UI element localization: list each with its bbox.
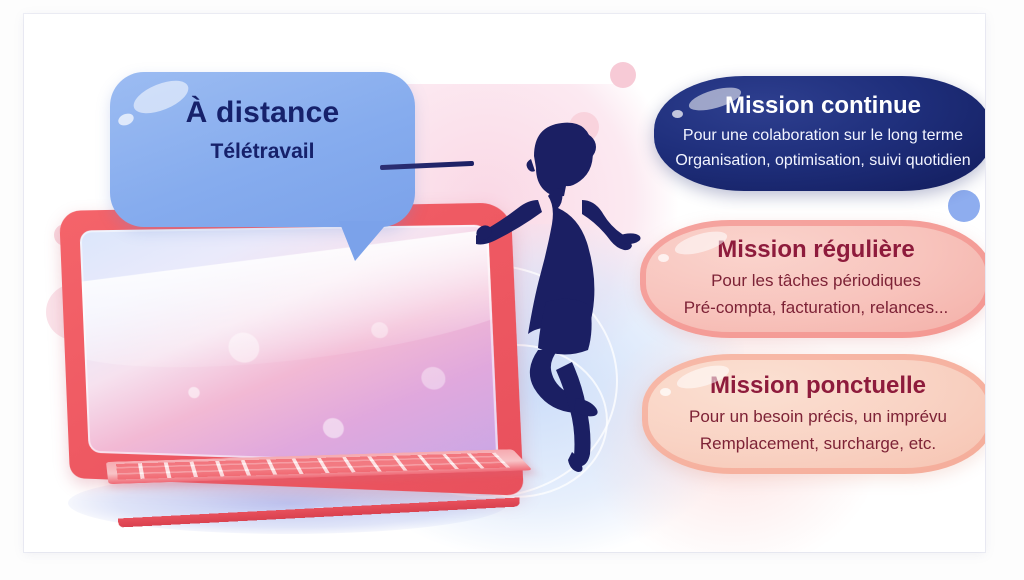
card-highlight-small bbox=[660, 388, 671, 396]
bubble-subtitle: Télétravail bbox=[110, 140, 415, 164]
bubble-title: À distance bbox=[110, 96, 415, 130]
card-mission-reguliere[interactable]: Mission régulière Pour les tâches périod… bbox=[640, 220, 985, 338]
woman-silhouette bbox=[476, 114, 656, 474]
card-line-two: Remplacement, surcharge, etc. bbox=[642, 434, 985, 454]
card-highlight-small bbox=[658, 254, 669, 262]
woman-silhouette-svg bbox=[476, 114, 656, 474]
card-line-two: Organisation, optimisation, suivi quotid… bbox=[654, 152, 985, 170]
card-line-one: Pour un besoin précis, un imprévu bbox=[642, 407, 985, 427]
decor-dot-blue-1 bbox=[948, 190, 980, 222]
speech-bubble: À distance Télétravail bbox=[110, 72, 415, 227]
card-line-two: Pré-compta, facturation, relances... bbox=[640, 298, 985, 318]
bubble-tail bbox=[339, 221, 389, 261]
card-mission-continue[interactable]: Mission continue Pour une colaboration s… bbox=[654, 76, 985, 191]
decor-dot-pink-1 bbox=[610, 62, 636, 88]
card-line-one: Pour les tâches périodiques bbox=[640, 271, 985, 291]
screen-wave-highlight bbox=[80, 225, 499, 385]
laptop-screen bbox=[80, 225, 499, 467]
card-mission-ponctuelle[interactable]: Mission ponctuelle Pour un besoin précis… bbox=[642, 354, 985, 474]
illustration-panel: À distance Télétravail bbox=[24, 14, 985, 552]
card-line-one: Pour une colaboration sur le long terme bbox=[654, 127, 985, 145]
card-highlight-small bbox=[672, 110, 683, 118]
illustration-canvas: À distance Télétravail bbox=[0, 0, 1024, 580]
